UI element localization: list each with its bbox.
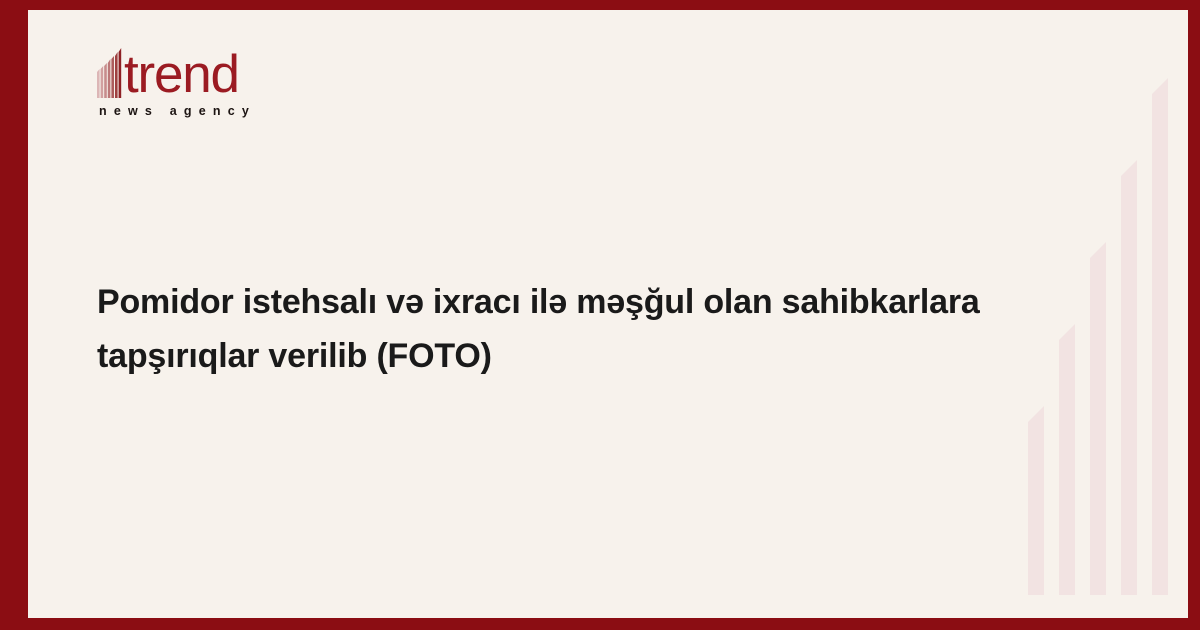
logo-tagline: news agency [99,104,317,118]
trend-logo[interactable]: trend news agency [97,46,317,118]
bar-chart-staircase-icon [97,48,123,98]
headline-line-1: Pomidor istehsalı və ixracı ilə məşğul o… [97,275,1097,329]
logo-row: trend [97,46,317,98]
page-title: Pomidor istehsalı və ixracı ilə məşğul o… [97,275,1097,383]
card-canvas: trend news agency Pomidor istehsalı və i… [28,10,1188,618]
logo-wordmark: trend [124,50,239,100]
headline-line-2: tapşırıqlar verilib (FOTO) [97,329,1097,383]
social-share-card: trend news agency Pomidor istehsalı və i… [0,0,1200,630]
